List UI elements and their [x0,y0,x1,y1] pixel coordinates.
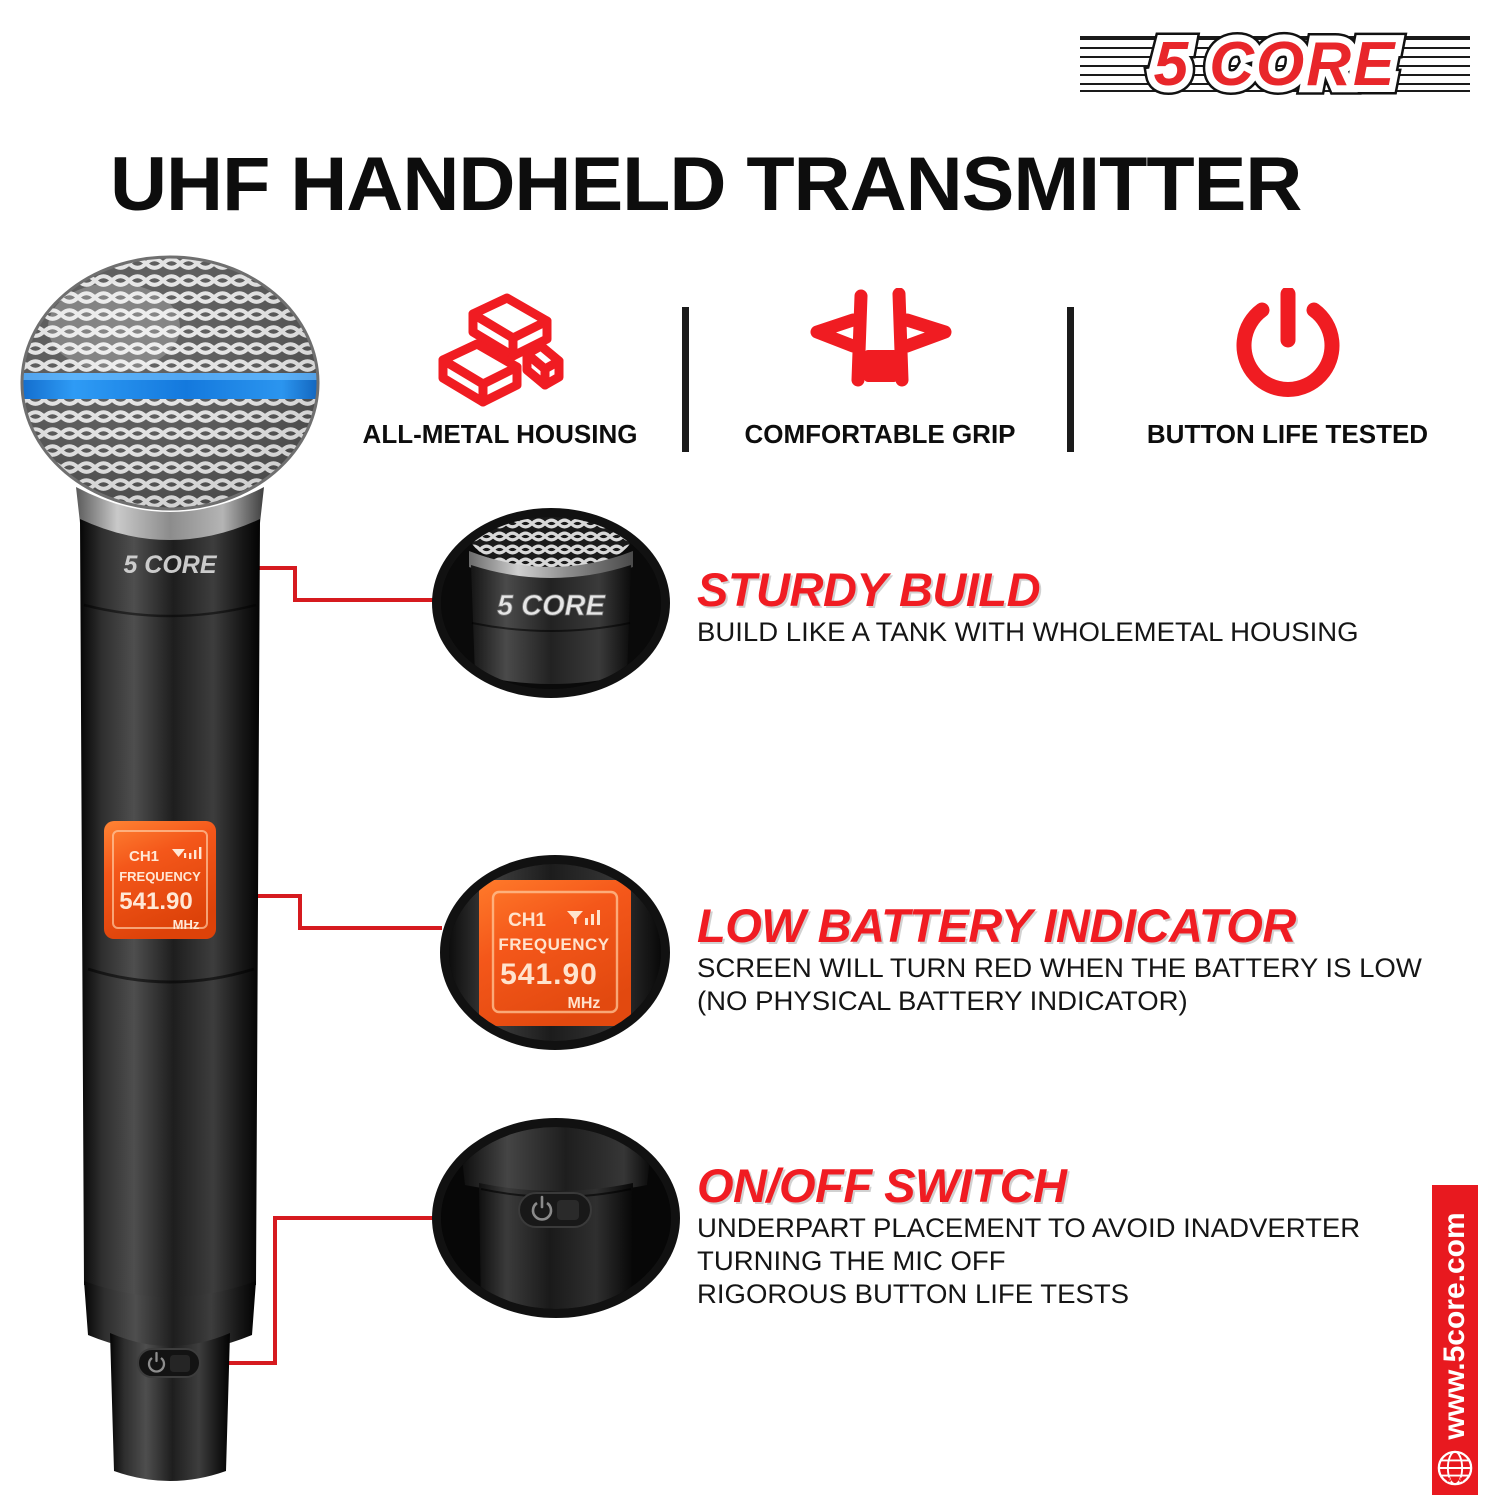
mic-brand-label: 5 CORE [123,551,217,579]
feature-divider-2 [1067,307,1074,452]
metal-bars-icon [435,285,565,415]
desc-line: SCREEN WILL TURN RED WHEN THE BATTERY IS… [697,952,1422,985]
mic-power-switch [138,1349,200,1377]
desc-line: TURNING THE MIC OFF [697,1245,1360,1278]
feature-label: COMFORTABLE GRIP [744,419,1015,450]
feature-desc-on-off-switch: UNDERPART PLACEMENT TO AVOID INADVERTER … [697,1212,1360,1311]
feature-divider-1 [682,307,689,452]
callout-zoom-on-off-switch [432,1118,680,1318]
logo-text: 5 CORE [1070,18,1480,110]
feature-title-on-off-switch: ON/OFF SWITCH [697,1158,1066,1213]
mic-lcd-screen: CH1 FREQUENCY 541.90 MHz [104,821,216,939]
lcd-value: 541.90 [500,958,598,991]
microphone-product-image: 5 CORE CH1 FREQUENCY 541.90 MHz [10,255,330,1485]
mic-grille [10,257,330,509]
callout-zoom-low-battery: CH1 FREQUENCY 541.90 MHz [440,855,670,1050]
feature-label: ALL-METAL HOUSING [363,419,638,450]
feature-desc-sturdy-build: BUILD LIKE A TANK WITH WHOLEMETAL HOUSIN… [697,616,1359,649]
www-globe-icon: www [1436,1449,1474,1487]
feature-comfortable-grip: COMFORTABLE GRIP [715,285,1045,475]
feature-row: ALL-METAL HOUSING COMFORTABLE GRIP [330,285,1480,475]
feature-title-sturdy-build: STURDY BUILD [697,562,1040,617]
feature-desc-low-battery: SCREEN WILL TURN RED WHEN THE BATTERY IS… [697,952,1422,1018]
lcd-label: FREQUENCY [498,935,609,954]
page-title: UHF HANDHELD TRANSMITTER [110,145,1472,225]
power-button-icon [1230,285,1346,415]
callout-zoom-sturdy-build: 5 CORE [432,508,670,698]
svg-text:FREQUENCY: FREQUENCY [119,869,201,884]
feature-label: BUTTON LIFE TESTED [1147,419,1428,450]
feature-all-metal-housing: ALL-METAL HOUSING [330,285,670,475]
lcd-channel: CH1 [508,910,546,931]
brand-logo: 5 CORE 5 CORE 5 CORE [1070,18,1480,110]
feature-title-low-battery: LOW BATTERY INDICATOR [697,898,1296,953]
svg-text:www: www [1445,1474,1464,1483]
mic-zoom-brand-label: 5 CORE [497,590,607,622]
svg-text:MHz: MHz [173,917,200,932]
desc-line: BUILD LIKE A TANK WITH WHOLEMETAL HOUSIN… [697,616,1359,649]
svg-text:541.90: 541.90 [119,888,192,915]
feature-button-life-tested: BUTTON LIFE TESTED [1095,285,1480,475]
lcd-unit: MHz [568,995,601,1012]
desc-line: (NO PHYSICAL BATTERY INDICATOR) [697,985,1422,1018]
desc-line: RIGOROUS BUTTON LIFE TESTS [697,1278,1360,1311]
comfortable-grip-icon [805,285,955,415]
desc-line: UNDERPART PLACEMENT TO AVOID INADVERTER [697,1212,1360,1245]
svg-text:CH1: CH1 [129,848,159,865]
side-banner-url: www.5core.com [1432,1191,1478,1461]
power-switch-oval [519,1193,591,1227]
infographic-page: 5 CORE 5 CORE 5 CORE UHF HANDHELD TRANSM… [0,0,1500,1500]
side-banner: www.5core.com www [1432,1185,1478,1495]
